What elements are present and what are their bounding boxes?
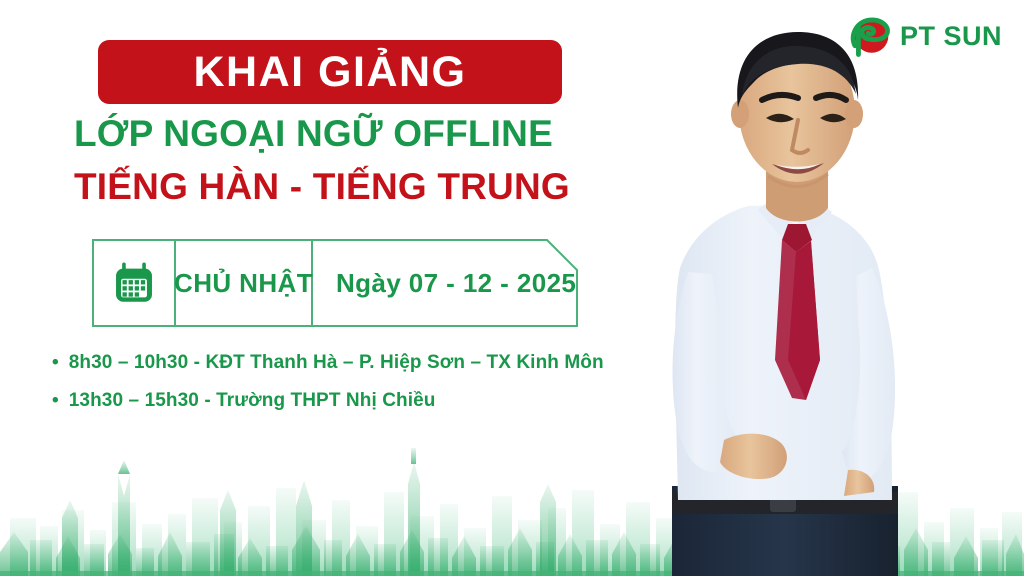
schedule-icon-cell: [92, 239, 175, 327]
list-item: • 8h30 – 10h30 - KĐT Thanh Hà – P. Hiệp …: [52, 352, 652, 375]
schedule-date-label: Ngày 07 - 12 - 2025: [336, 268, 576, 299]
male-teacher-photo: [620, 0, 1024, 576]
headline-subtitle-green: LỚP NGOẠI NGỮ OFFLINE: [74, 115, 553, 154]
schedule-day-label: CHỦ NHẬT: [174, 268, 313, 299]
brand-logo: PT SUN: [847, 14, 1002, 58]
bullet-dot-icon: •: [52, 353, 59, 372]
schedule-date-cell: Ngày 07 - 12 - 2025: [312, 239, 578, 327]
schedule-row: CHỦ NHẬT Ngày 07 - 12 - 2025: [92, 239, 578, 327]
schedule-day-cell: CHỦ NHẬT: [175, 239, 312, 327]
ptsun-globe-logo-icon: [847, 14, 891, 58]
poster-canvas: PT SUN KHAI GIẢNG LỚP NGOẠI NGỮ OFFLINE …: [0, 0, 1024, 576]
schedule-box: CHỦ NHẬT Ngày 07 - 12 - 2025: [92, 239, 578, 327]
brand-logo-text: PT SUN: [900, 23, 1002, 50]
headline-subtitle-red: TIẾNG HÀN - TIẾNG TRUNG: [74, 168, 570, 207]
session-text: 13h30 – 15h30 - Trường THPT Nhị Chiều: [69, 390, 436, 413]
headline-banner: KHAI GIẢNG: [98, 40, 562, 104]
session-text: 8h30 – 10h30 - KĐT Thanh Hà – P. Hiệp Sơ…: [69, 352, 604, 375]
list-item: • 13h30 – 15h30 - Trường THPT Nhị Chiều: [52, 390, 652, 413]
calendar-icon: [111, 260, 157, 306]
headline-banner-text: KHAI GIẢNG: [194, 51, 467, 94]
session-list: • 8h30 – 10h30 - KĐT Thanh Hà – P. Hiệp …: [52, 352, 652, 428]
city-skyline-silhouette: [0, 440, 1024, 576]
bullet-dot-icon: •: [52, 391, 59, 410]
